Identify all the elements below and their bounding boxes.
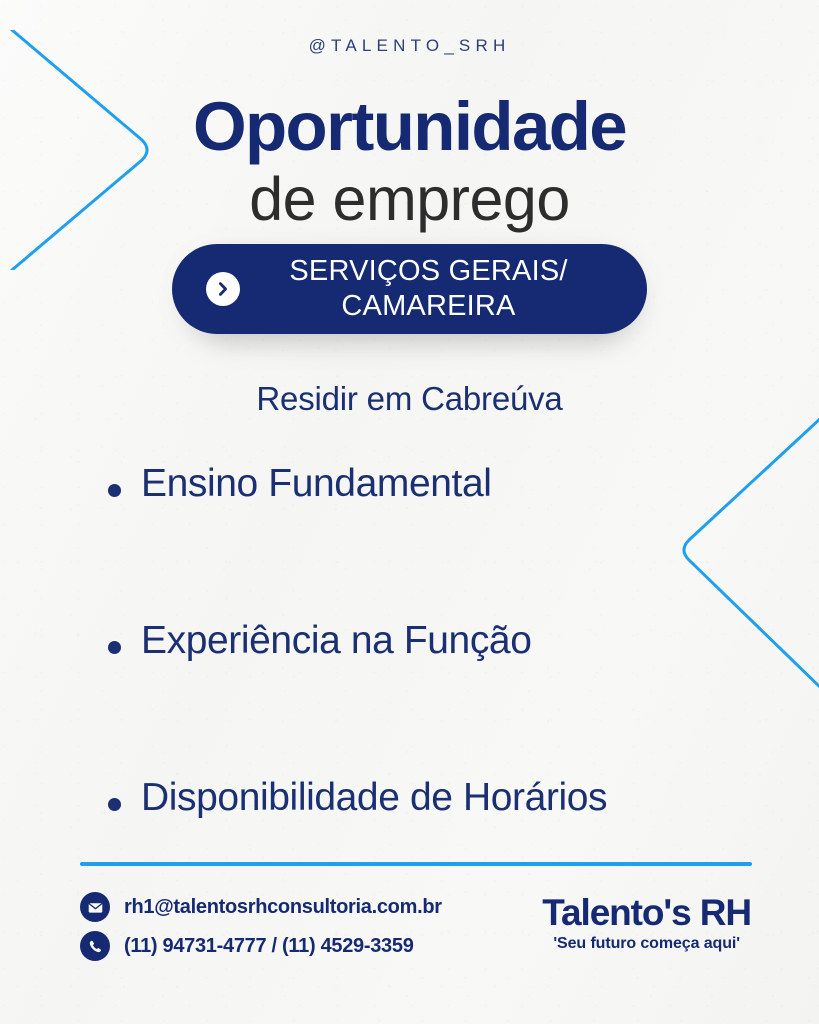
bullet-dot-icon	[108, 798, 121, 811]
company-tagline: 'Seu futuro começa aqui'	[542, 935, 751, 953]
bullet-dot-icon	[108, 641, 121, 654]
role-badge-text: SERVIÇOS GERAIS/ CAMAREIRA	[250, 254, 625, 325]
contact-email-text: rh1@talentosrhconsultoria.com.br	[124, 896, 442, 919]
contact-block: rh1@talentosrhconsultoria.com.br (11) 94…	[80, 892, 442, 970]
list-item-label: Ensino Fundamental	[141, 462, 492, 507]
role-badge-line-1: SERVIÇOS GERAIS/	[289, 255, 567, 287]
envelope-icon	[80, 892, 110, 922]
location-requirement: Residir em Cabreúva	[0, 380, 819, 418]
contact-email-row[interactable]: rh1@talentosrhconsultoria.com.br	[80, 892, 442, 922]
phone-icon	[80, 931, 110, 961]
title-line-primary: Oportunidade	[0, 92, 819, 161]
list-item-label: Disponibilidade de Horários	[141, 776, 607, 821]
list-item-label: Experiência na Função	[141, 619, 532, 664]
role-badge-line-2: CAMAREIRA	[250, 289, 607, 324]
role-badge: SERVIÇOS GERAIS/ CAMAREIRA	[172, 244, 647, 334]
bullet-dot-icon	[108, 484, 121, 497]
social-handle: @TALENTO_SRH	[0, 36, 819, 56]
job-posting-poster: @TALENTO_SRH Oportunidade de emprego SER…	[0, 0, 819, 1024]
list-item: Ensino Fundamental	[108, 462, 768, 619]
page-title: Oportunidade de emprego	[0, 92, 819, 231]
company-logo: Talento's RH 'Seu futuro começa aqui'	[542, 894, 751, 953]
footer: rh1@talentosrhconsultoria.com.br (11) 94…	[0, 888, 819, 978]
list-item: Experiência na Função	[108, 619, 768, 776]
chevron-right-icon	[206, 272, 240, 306]
contact-phone-row[interactable]: (11) 94731-4777 / (11) 4529-3359	[80, 931, 442, 961]
contact-phone-text: (11) 94731-4777 / (11) 4529-3359	[124, 935, 414, 958]
company-name: Talento's RH	[542, 894, 751, 931]
title-line-secondary: de emprego	[0, 167, 819, 231]
footer-divider	[80, 862, 752, 866]
